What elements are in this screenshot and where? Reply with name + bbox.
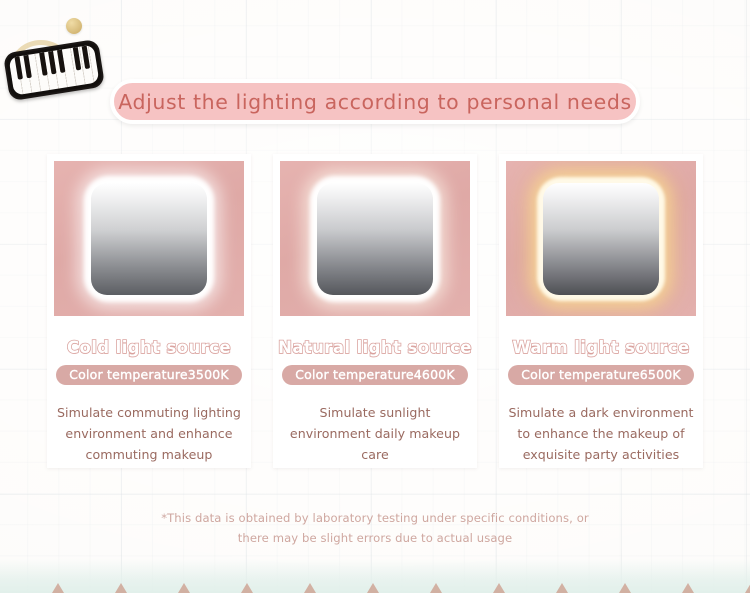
piano-black-key: [57, 50, 66, 73]
piano-black-key: [73, 47, 82, 70]
card-description: Simulate a dark environment to enhance t…: [508, 402, 694, 465]
color-temperature-badge: Color temperature3500K: [56, 365, 242, 385]
light-mode-card-natural[interactable]: Natural light source Color temperature46…: [273, 154, 477, 468]
light-mode-card-warm[interactable]: Warm light source Color temperature6500K…: [499, 154, 703, 468]
color-temperature-badge: Color temperature4600K: [282, 365, 468, 385]
card-heading: Warm light source: [512, 338, 689, 357]
footnote: *This data is obtained by laboratory tes…: [0, 508, 750, 548]
card-description: Simulate sunlight environment daily make…: [282, 402, 468, 465]
lamp-glow-icon: [317, 183, 433, 295]
lamp-glow-icon: [91, 183, 207, 295]
light-mode-card-list: Cold light source Color temperature3500K…: [47, 154, 703, 468]
lamp-preview-warm: [506, 161, 696, 316]
piano-black-key: [39, 52, 48, 75]
piano-black-key: [82, 46, 91, 69]
footnote-line-2: there may be slight errors due to actual…: [0, 528, 750, 548]
card-heading: Cold light source: [67, 338, 231, 357]
lamp-screen: [317, 183, 433, 295]
card-description: Simulate commuting lighting environment …: [56, 402, 242, 465]
page-title: Adjust the lighting according to persona…: [118, 90, 632, 114]
piano-white-keys: [9, 45, 100, 96]
title-banner: Adjust the lighting according to persona…: [110, 79, 640, 124]
lamp-preview-natural: [280, 161, 470, 316]
gold-note-icon: [66, 18, 82, 34]
piano-black-key: [14, 56, 23, 79]
piano-black-key: [23, 55, 32, 78]
lamp-screen: [543, 183, 659, 295]
footnote-line-1: *This data is obtained by laboratory tes…: [0, 508, 750, 528]
lamp-glow-icon: [543, 183, 659, 295]
piano-black-key: [48, 51, 57, 74]
card-heading: Natural light source: [278, 338, 472, 357]
lamp-screen: [91, 183, 207, 295]
color-temperature-badge: Color temperature6500K: [508, 365, 694, 385]
light-mode-card-cold[interactable]: Cold light source Color temperature3500K…: [47, 154, 251, 468]
lamp-preview-cold: [54, 161, 244, 316]
piano-keyboard-icon: [2, 16, 102, 88]
